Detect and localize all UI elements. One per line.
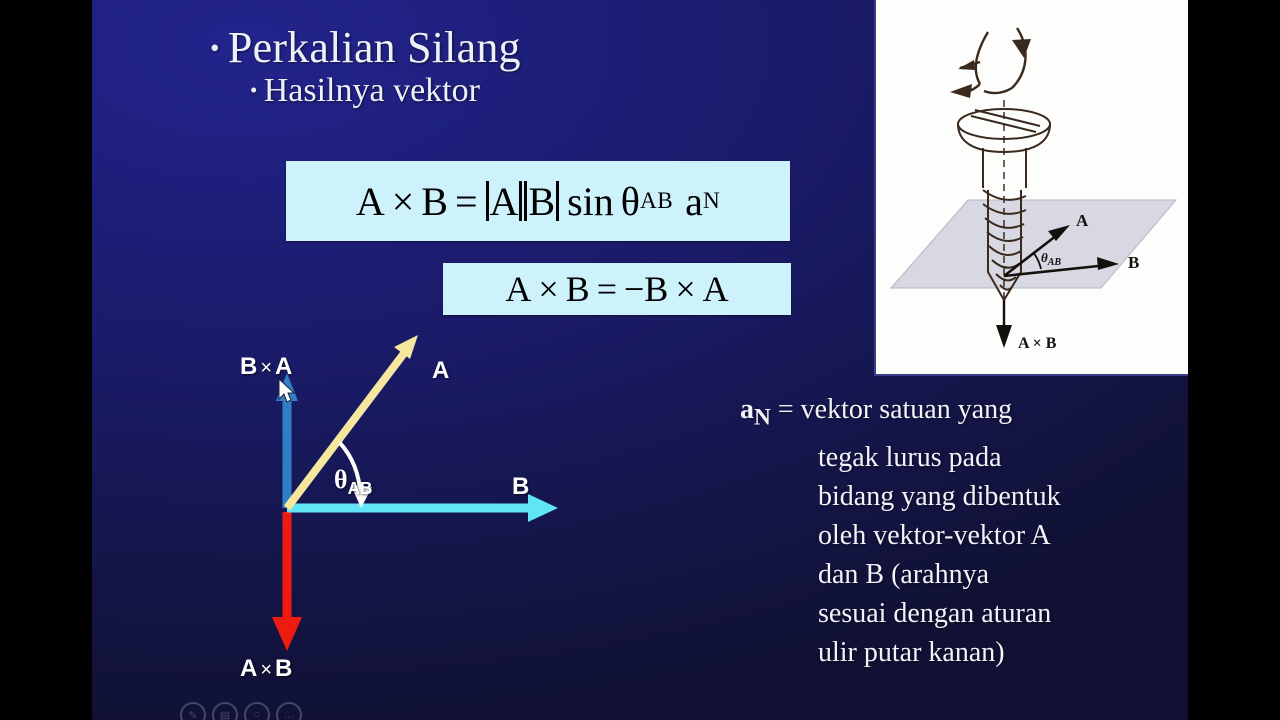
formula2-minus-b: −B	[624, 268, 668, 310]
photo-label-a-cross-b: A × B	[1018, 335, 1057, 352]
label-theta-ab: θAB	[334, 465, 372, 499]
abs-bar-icon	[524, 181, 527, 221]
presentation-viewer: •Perkalian Silang •Hasilnya vektor A × B…	[0, 0, 1280, 720]
bullet-level1-text: Perkalian Silang	[228, 23, 521, 72]
formula1-unit-vector: a	[673, 178, 703, 225]
label-a-cross-b-op: ×	[257, 659, 275, 681]
bullet-marker-icon: •	[210, 33, 220, 64]
mouse-cursor-icon	[278, 378, 296, 404]
explanation-line-5: dan B (arahnya	[740, 555, 1188, 594]
formula1-magnitude-a: A	[490, 178, 519, 225]
rotation-arrowhead-icon-2	[1012, 39, 1031, 58]
toolbar-magnifier-icon[interactable]: ○	[244, 702, 270, 720]
explanation-line-6: sesuai dengan aturan	[740, 594, 1188, 633]
label-vector-b: B	[512, 473, 529, 501]
explanation-line-3-text: bidang yang dibentuk	[818, 481, 1061, 512]
toolbar-slides-icon[interactable]: ▤	[212, 702, 238, 720]
a-cross-b-arrow-icon	[272, 512, 302, 651]
bullet-level2: •Hasilnya vektor	[250, 72, 480, 110]
explanation-line-1: aN = vektor satuan yang	[740, 390, 1188, 438]
letterbox-bar-left	[0, 0, 92, 720]
explanation-line-2-text: tegak lurus pada	[818, 442, 1002, 473]
formula2-a-2: A	[703, 268, 729, 310]
toolbar-pen-icon[interactable]: ✎	[180, 702, 206, 720]
formula1-theta-subscript: AB	[640, 188, 673, 215]
explanation-symbol: a	[740, 394, 754, 425]
photo-label-b: B	[1128, 253, 1139, 272]
screw-figure-svg: A B θAB A × B	[876, 0, 1188, 374]
explanation-line-1-text: vektor satuan yang	[801, 394, 1013, 425]
explanation-line-4: oleh vektor-vektor A	[740, 516, 1188, 555]
explanation-line-7: ulir putar kanan)	[740, 633, 1188, 672]
formula1-cross-operator: ×	[385, 178, 422, 225]
explanation-text: aN = vektor satuan yang tegak lurus pada…	[740, 390, 1188, 672]
vector-diagram: B×A A×B A B θAB	[222, 325, 582, 700]
photo-label-a: A	[1076, 211, 1089, 230]
rotation-arrowhead-icon	[950, 84, 972, 98]
explanation-line-4-text: oleh vektor-vektor A	[818, 520, 1051, 551]
formula-box-cross-product: A × B = AB sin θAB aN	[286, 161, 790, 241]
explanation-line-5-text: dan B (arahnya	[818, 559, 989, 590]
formula2-cross-operator: ×	[531, 268, 565, 310]
formula-box-anticommutative: A × B = −B × A	[443, 263, 791, 315]
presentation-toolbar[interactable]: ✎ ▤ ○ …	[180, 702, 302, 720]
formula1-theta: θ	[621, 178, 640, 225]
label-a-cross-b-left: A	[240, 655, 257, 682]
toolbar-more-icon[interactable]: …	[276, 702, 302, 720]
explanation-equals: =	[778, 394, 794, 425]
formula1-a: A	[356, 178, 385, 225]
formula1-sin: sin	[560, 178, 621, 225]
photo-axb-head-icon	[996, 325, 1012, 348]
explanation-symbol-subscript: N	[754, 405, 771, 431]
vector-diagram-svg	[222, 325, 582, 700]
screw-right-hand-rule-image: A B θAB A × B	[874, 0, 1188, 376]
letterbox-bar-right	[1188, 0, 1280, 720]
label-theta-symbol: θ	[334, 465, 348, 494]
explanation-line-2: tegak lurus pada	[740, 438, 1188, 477]
formula2-a: A	[505, 268, 531, 310]
label-b-cross-a-left: B	[240, 353, 257, 380]
label-b-cross-a-right: A	[275, 353, 292, 380]
bullet-level2-text: Hasilnya vektor	[264, 72, 480, 109]
abs-bar-icon	[556, 181, 559, 221]
label-theta-subscript: AB	[348, 478, 373, 498]
formula2-equals: =	[590, 268, 624, 310]
bullet-marker-icon: •	[250, 78, 257, 103]
explanation-line-3: bidang yang dibentuk	[740, 477, 1188, 516]
formula2-b: B	[566, 268, 590, 310]
formula1-b: B	[421, 178, 448, 225]
formula1-equals: =	[448, 178, 485, 225]
label-vector-a: A	[432, 357, 449, 385]
explanation-line-6-text: sesuai dengan aturan	[818, 598, 1051, 629]
plane-shape	[891, 200, 1176, 288]
label-b-cross-a: B×A	[240, 353, 292, 381]
label-a-cross-b: A×B	[240, 655, 292, 683]
formula1-magnitude-b: B	[528, 178, 555, 225]
label-b-cross-a-op: ×	[257, 357, 275, 379]
abs-bar-icon	[519, 181, 522, 221]
slide-canvas: •Perkalian Silang •Hasilnya vektor A × B…	[92, 0, 1188, 720]
label-a-cross-b-right: B	[275, 655, 292, 682]
abs-bar-icon	[486, 181, 489, 221]
formula2-cross-operator-2: ×	[668, 268, 702, 310]
rotation-arrow-icon	[954, 28, 1026, 93]
formula1-unit-subscript: N	[703, 188, 720, 215]
bullet-level1: •Perkalian Silang	[210, 22, 521, 73]
explanation-line-7-text: ulir putar kanan)	[818, 637, 1005, 668]
